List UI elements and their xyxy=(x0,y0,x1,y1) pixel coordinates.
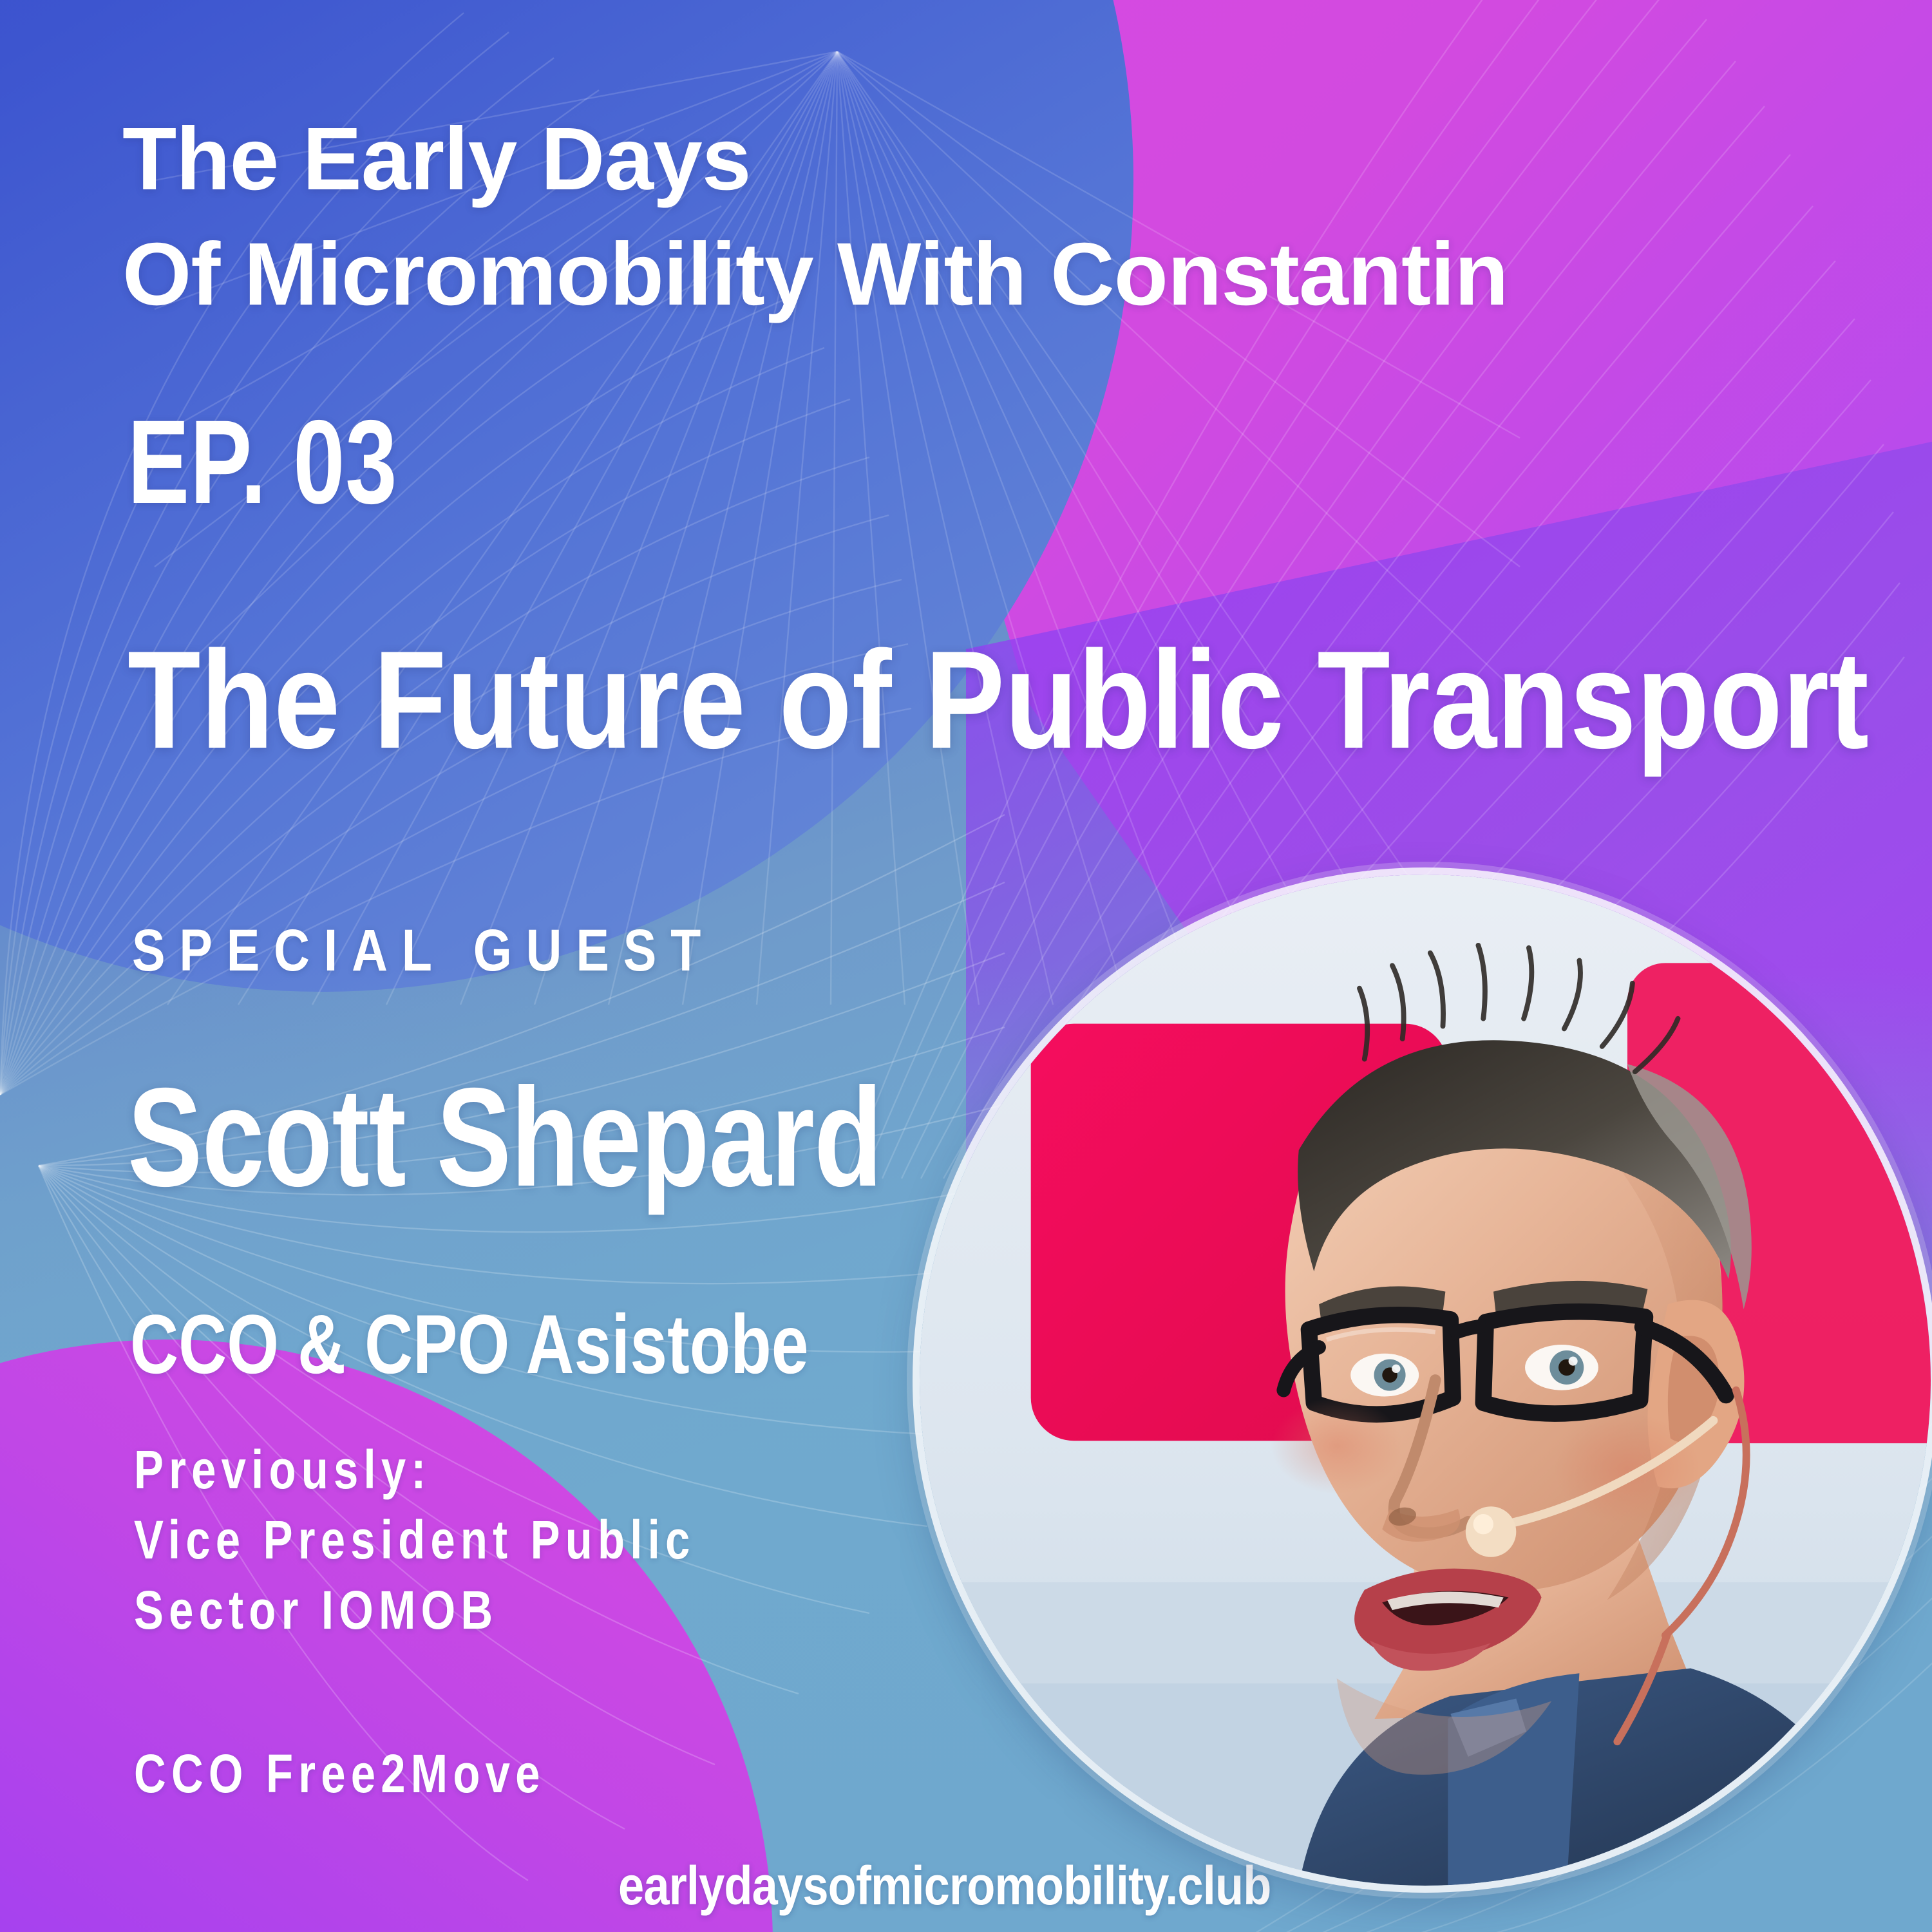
previously-role-line-1: Vice President Public xyxy=(134,1505,695,1575)
podcast-cover-art: The Early Days Of Micromobility With Con… xyxy=(0,0,1932,1932)
guest-role: CCO & CPO Asistobe xyxy=(130,1296,809,1392)
show-title: The Early Days Of Micromobility With Con… xyxy=(122,102,1848,333)
special-guest-label: SPECIAL GUEST xyxy=(132,917,715,985)
show-title-line-2: Of Micromobility With Constantin xyxy=(122,217,1848,332)
guest-portrait-image xyxy=(920,875,1931,1886)
episode-title: The Future of Public Transport xyxy=(128,620,1672,780)
previously-role-line-2: Sector IOMOB xyxy=(134,1575,695,1645)
guest-photo-circle xyxy=(920,875,1931,1886)
previously-role-line-3: CCO Free2Move xyxy=(134,1743,545,1805)
previously-label: Previously: xyxy=(134,1435,695,1505)
guest-name: Scott Shepard xyxy=(128,1057,882,1218)
guest-previous-roles: Previously: Vice President Public Sector… xyxy=(134,1435,695,1646)
website-url: earlydaysofmicromobility.club xyxy=(618,1855,1271,1917)
show-title-line-1: The Early Days xyxy=(122,109,751,209)
episode-number: EP. 03 xyxy=(128,394,397,531)
